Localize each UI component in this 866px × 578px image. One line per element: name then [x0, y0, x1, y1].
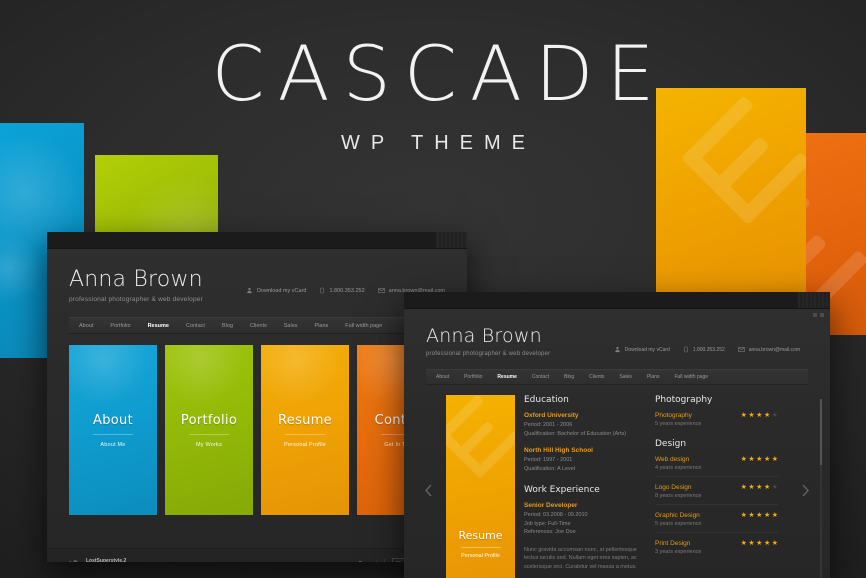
resume-feature-panel[interactable]: Resume Personal Profile	[446, 395, 515, 578]
skill-experience: 8 years experience	[655, 493, 778, 499]
star-icon: ★	[748, 484, 754, 491]
browser-window-resume[interactable]: Anna Brown professional photographer & w…	[404, 292, 830, 578]
contact-item-phone[interactable]: 1.800.353.252	[683, 346, 725, 353]
card-rule	[285, 434, 325, 435]
resume-entry: Senior DeveloperPeriod: 03.2008 - 09.201…	[524, 502, 646, 537]
divider	[655, 532, 778, 533]
nav-item-blog[interactable]: Blog	[222, 323, 233, 329]
card-glow	[261, 345, 341, 405]
window-titlebar-resume	[404, 292, 830, 309]
twitter-handle: LostSuperstyle.2	[86, 558, 244, 562]
card-title: Portfolio	[181, 413, 237, 428]
star-icon: ★	[756, 456, 762, 463]
prev-slide-arrow[interactable]	[420, 395, 437, 578]
footer-tweet: LostSuperstyle.2 @JohnMazz Support for a…	[86, 558, 244, 562]
deco-panel-green	[95, 155, 218, 233]
nav-item-portfolio[interactable]: Portfolio	[464, 374, 482, 380]
vcard-icon	[246, 287, 253, 294]
skill-item: Print Design★★★★★3 years experience	[655, 540, 778, 555]
nav-item-sales[interactable]: Sales	[284, 323, 298, 329]
card-rule	[93, 434, 133, 435]
card-subtitle: Personal Profile	[284, 442, 326, 448]
connect-label: Connect	[358, 561, 377, 562]
resume-content: Resume Personal Profile Education Oxford…	[404, 395, 830, 578]
skill-group-heading: Photography	[655, 395, 778, 405]
window-titlebar-home	[47, 232, 467, 249]
star-icon: ★	[748, 540, 754, 547]
work-body-text: Nunc gravida accumsan nunc, at pellentes…	[524, 546, 646, 572]
skill-rating: ★★★★★	[741, 484, 778, 491]
skill-rating: ★★★★★	[741, 512, 778, 519]
skill-row: Logo Design★★★★★	[655, 484, 778, 491]
card-rule	[189, 434, 229, 435]
contact-item-mail[interactable]: anna.brown@mail.com	[738, 346, 800, 353]
nav-item-contact[interactable]: Contact	[532, 374, 549, 380]
panel-title: Resume	[458, 529, 502, 542]
nav-item-clients[interactable]: Clients	[589, 374, 604, 380]
star-icon: ★	[741, 412, 747, 419]
divider	[655, 476, 778, 477]
nav-item-clients[interactable]: Clients	[250, 323, 267, 329]
entry-title: Senior Developer	[524, 502, 646, 509]
resume-left-column: Education Oxford UniversityPeriod: 2001 …	[524, 395, 646, 578]
skill-item: Web design★★★★★4 years experience	[655, 456, 778, 477]
skill-experience: 4 years experience	[655, 465, 778, 471]
nav-item-full-width-page[interactable]: Full width page	[345, 323, 382, 329]
nav-item-contact[interactable]: Contact	[186, 323, 205, 329]
education-heading: Education	[524, 395, 646, 405]
divider	[384, 559, 385, 563]
card-subtitle: About Me	[100, 442, 125, 448]
nav-item-plans[interactable]: Plans	[315, 323, 329, 329]
skill-row: Print Design★★★★★	[655, 540, 778, 547]
nav-item-sales[interactable]: Sales	[619, 374, 632, 380]
mail-icon	[378, 287, 385, 294]
star-icon: ★	[756, 540, 762, 547]
resume-entry: North Hill High SchoolPeriod: 1997 - 200…	[524, 447, 646, 473]
star-icon: ★	[772, 412, 778, 419]
main-nav-resume[interactable]: AboutPortfolioResumeContactBlogClientsSa…	[426, 369, 808, 385]
nav-item-blog[interactable]: Blog	[564, 374, 574, 380]
star-icon: ★	[756, 412, 762, 419]
next-slide-arrow[interactable]	[797, 395, 814, 578]
star-icon: ★	[748, 412, 754, 419]
star-icon: ★	[741, 484, 747, 491]
home-card-about[interactable]: AboutAbout Me	[69, 345, 157, 515]
entry-title: North Hill High School	[524, 447, 646, 454]
home-card-resume[interactable]: ResumePersonal Profile	[261, 345, 349, 515]
card-glow	[165, 345, 245, 405]
nav-item-full-width-page[interactable]: Full width page	[674, 374, 708, 380]
content-scrollbar[interactable]	[820, 399, 822, 578]
phone-icon	[319, 287, 325, 294]
star-icon: ★	[772, 484, 778, 491]
panel-rule	[461, 547, 501, 548]
skill-experience: 3 years experience	[655, 549, 778, 555]
phone-icon	[683, 346, 689, 353]
skill-item: Graphic Design★★★★★5 years experience	[655, 512, 778, 533]
resume-entry: Oxford UniversityPeriod: 2001 - 2006Qual…	[524, 412, 646, 438]
contact-label: Download my vCard	[625, 347, 670, 353]
site-name-resume: Anna Brown	[426, 325, 808, 347]
entry-line: Qualification: Bachelor of Education (Ar…	[524, 430, 646, 439]
skill-name: Logo Design	[655, 484, 692, 491]
star-icon: ★	[756, 484, 762, 491]
poster-stage: CASCADE WP THEME Anna Brown professional…	[0, 0, 866, 578]
vcard-icon	[614, 346, 621, 353]
entry-title: Oxford University	[524, 412, 646, 419]
contact-item-vcard[interactable]: Download my vCard	[246, 287, 307, 294]
nav-item-about[interactable]: About	[436, 374, 449, 380]
skill-rating: ★★★★★	[741, 540, 778, 547]
contact-label: Download my vCard	[257, 288, 307, 294]
entry-line: Period: 1997 - 2001	[524, 456, 646, 465]
star-icon: ★	[772, 540, 778, 547]
entry-line: Period: 2001 - 2006	[524, 421, 646, 430]
skill-name: Graphic Design	[655, 512, 700, 519]
star-icon: ★	[741, 512, 747, 519]
star-icon: ★	[764, 512, 770, 519]
nav-item-resume[interactable]: Resume	[497, 374, 516, 380]
skill-name: Print Design	[655, 540, 690, 547]
main-nav-home[interactable]: AboutPortfolioResumeContactBlogClientsSa…	[69, 317, 445, 334]
contact-item-vcard[interactable]: Download my vCard	[614, 346, 670, 353]
toggle-dot-2[interactable]	[820, 313, 824, 317]
work-list: Senior DeveloperPeriod: 03.2008 - 09.201…	[524, 502, 646, 537]
card-subtitle: My Works	[196, 442, 222, 448]
star-icon: ★	[748, 456, 754, 463]
skill-name: Web design	[655, 456, 689, 463]
skill-experience: 5 years experience	[655, 421, 778, 427]
home-card-portfolio[interactable]: PortfolioMy Works	[165, 345, 253, 515]
nav-item-about[interactable]: About	[79, 323, 93, 329]
entry-line: Job type: Full-Time	[524, 520, 646, 529]
star-icon: ★	[772, 456, 778, 463]
skill-name: Photography	[655, 412, 692, 419]
star-icon: ★	[764, 456, 770, 463]
nav-item-plans[interactable]: Plans	[647, 374, 660, 380]
star-icon: ★	[764, 412, 770, 419]
site-tagline: professional photographer & web develope…	[69, 296, 445, 303]
entry-line: Period: 03.2008 - 09.2010	[524, 511, 646, 520]
contact-label: 1.800.353.252	[329, 288, 364, 294]
skill-rating: ★★★★★	[741, 412, 778, 419]
star-icon: ★	[748, 512, 754, 519]
contact-item-phone[interactable]: 1.800.353.252	[319, 287, 364, 294]
toggle-dot-1[interactable]	[813, 313, 817, 317]
education-list: Oxford UniversityPeriod: 2001 - 2006Qual…	[524, 412, 646, 473]
star-icon: ★	[756, 512, 762, 519]
skill-row: Graphic Design★★★★★	[655, 512, 778, 519]
entry-line: Qualification: A Level	[524, 465, 646, 474]
contact-label: 1.800.353.252	[693, 347, 725, 353]
panel-toggle-icons[interactable]	[813, 313, 824, 317]
scrollbar-thumb[interactable]	[820, 399, 822, 465]
card-title: Resume	[278, 413, 332, 428]
star-icon: ★	[764, 540, 770, 547]
skill-experience: 5 years experience	[655, 521, 778, 527]
mail-icon	[738, 346, 745, 353]
skill-groups: PhotographyPhotography★★★★★5 years exper…	[655, 395, 778, 555]
twitter-icon	[69, 559, 78, 563]
skill-row: Photography★★★★★	[655, 412, 778, 419]
star-icon: ★	[741, 540, 747, 547]
nav-item-portfolio[interactable]: Portfolio	[110, 323, 130, 329]
card-title: About	[93, 413, 133, 428]
site-resume: Anna Brown professional photographer & w…	[404, 309, 830, 578]
star-icon: ★	[772, 512, 778, 519]
resume-skills-column: PhotographyPhotography★★★★★5 years exper…	[655, 395, 788, 578]
skill-row: Web design★★★★★	[655, 456, 778, 463]
star-icon: ★	[764, 484, 770, 491]
contact-info-resume: Download my vCard1.800.353.252anna.brown…	[614, 346, 800, 353]
card-glow	[69, 345, 149, 405]
panel-subtitle: Personal Profile	[461, 553, 500, 559]
divider	[655, 504, 778, 505]
work-heading: Work Experience	[524, 485, 646, 495]
deco-panel-orange	[656, 88, 806, 294]
entry-line: References: Joe Doe	[524, 528, 646, 537]
star-icon: ★	[741, 456, 747, 463]
skill-item: Photography★★★★★5 years experience	[655, 412, 778, 427]
contact-label: anna.brown@mail.com	[749, 347, 800, 353]
skill-group-heading: Design	[655, 439, 778, 449]
nav-item-resume[interactable]: Resume	[148, 323, 169, 329]
skill-rating: ★★★★★	[741, 456, 778, 463]
skill-item: Logo Design★★★★★8 years experience	[655, 484, 778, 505]
